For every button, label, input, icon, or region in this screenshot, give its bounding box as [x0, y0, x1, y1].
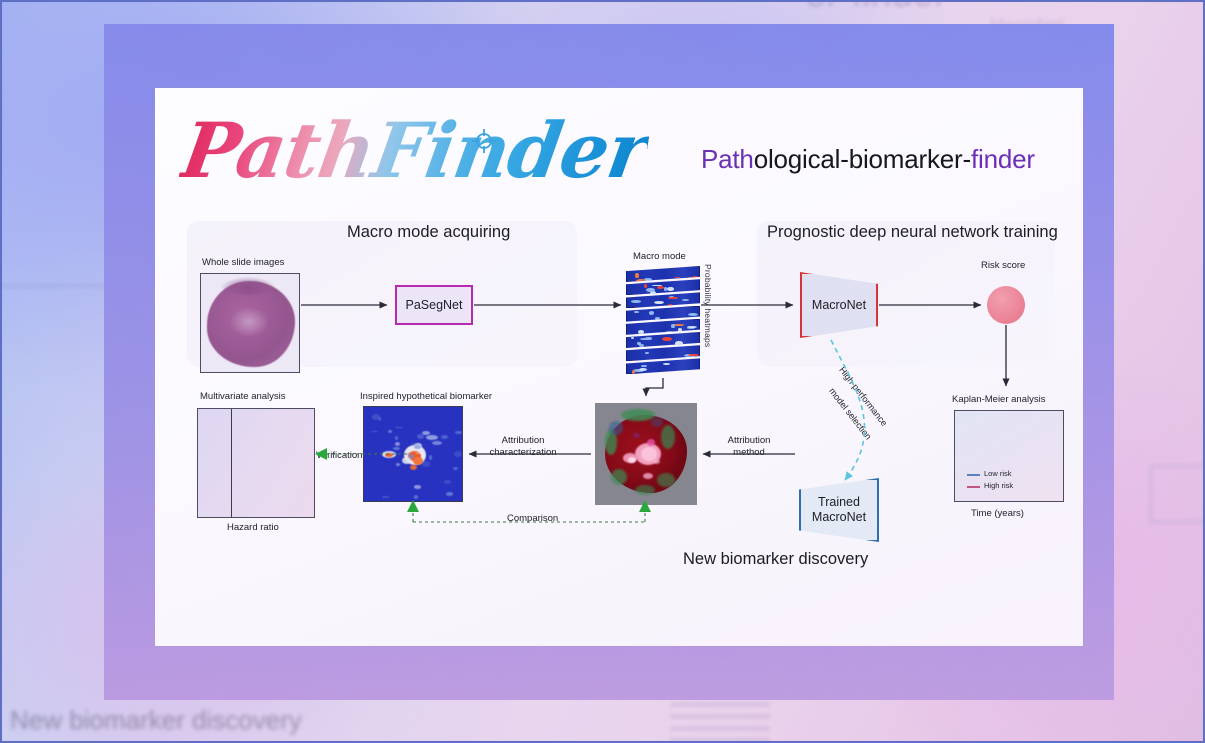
heatmap-blob [410, 465, 417, 470]
ghost-new-biomarker: New biomarker discovery [10, 705, 302, 736]
heatmap-blob [422, 431, 430, 435]
heatmap-blob [453, 467, 458, 470]
tumor-hotspot [633, 433, 640, 438]
subtitle-middle: ological-biomarker- [754, 144, 971, 174]
node-macronet[interactable]: MacroNet [800, 272, 878, 338]
logo-block: PathFinder Pathological-biomarker-finder [183, 110, 1053, 202]
heatmap-blob [432, 441, 442, 445]
heatmap-blob [414, 495, 418, 499]
label-verification: Verification [316, 450, 362, 462]
heatmap-blob [395, 427, 403, 429]
ghost-trained-box [1150, 465, 1205, 523]
heatmap-slice [626, 319, 700, 335]
heatmap-blob [372, 414, 381, 419]
heatmap-blob [395, 436, 398, 440]
label-macro-mode: Macro mode [633, 251, 686, 262]
subtitle: Pathological-biomarker-finder [701, 144, 1035, 175]
label-attribution-characterization: Attributioncharacterization [475, 435, 571, 459]
km-legend-swatch-high [967, 486, 980, 488]
heatmap-blob [417, 434, 423, 439]
label-km-xlabel: Time (years) [971, 508, 1024, 519]
arrow-stack-to-tumor [646, 378, 663, 396]
multivariate-forest-plot [197, 408, 315, 518]
main-figure-card: PathFinder Pathological-biomarker-finder… [155, 88, 1083, 646]
heatmap-blob [388, 430, 392, 433]
tumor-edge-blob [651, 417, 663, 427]
node-trained-macronet[interactable]: Trained MacroNet [799, 478, 879, 542]
heatmap-blob [415, 452, 422, 454]
heatmap-blob [385, 453, 393, 457]
label-attribution-method: Attributionmethod [711, 435, 787, 459]
heatmap-slice [626, 345, 700, 361]
node-trained-macronet-line1: Trained [818, 495, 860, 509]
heatmap-blob [393, 447, 400, 450]
tumor-hotspot [653, 459, 660, 464]
panel-title-prognostic: Prognostic deep neural network training [767, 223, 1058, 242]
km-legend-swatch-low [967, 474, 980, 476]
node-pasegnet-label: PaSegNet [406, 298, 463, 313]
heatmap-blob [454, 451, 462, 456]
tumor-edge-blob [611, 469, 627, 485]
heatmap-blob [422, 461, 430, 466]
heatmap-slice [626, 332, 700, 348]
heatmap-blob [395, 442, 400, 446]
heatmap-blob [444, 480, 451, 484]
heatmap-blob [429, 455, 432, 460]
tumor-hotspot [643, 473, 653, 479]
whole-slide-image [200, 273, 300, 373]
tumor-edge-blob [635, 485, 655, 495]
tumor-edge-blob [621, 409, 655, 421]
km-legend-label-high: High risk [984, 481, 1013, 490]
heatmap-slice [626, 279, 700, 295]
heatmap-blob [414, 485, 422, 489]
figure-stage: PathFinder er-finder Macro mode acquirin… [0, 0, 1205, 743]
node-macronet-label: MacroNet [812, 298, 866, 313]
crosshair-target-icon [471, 128, 497, 154]
tumor-hotspot [628, 457, 636, 463]
ghost-subtitle: er-finder [805, 0, 947, 16]
heatmap-blob [414, 445, 422, 449]
pathfinder-logo: PathFinder [176, 106, 654, 195]
heatmap-blob [426, 435, 438, 440]
node-trained-macronet-line2: MacroNet [812, 510, 866, 524]
risk-score-dot [987, 286, 1025, 324]
label-whole-slide-images: Whole slide images [202, 257, 284, 268]
label-kaplan-meier: Kaplan-Meier analysis [952, 394, 1045, 405]
heatmap-blob [441, 435, 448, 439]
subtitle-prefix: Path [701, 144, 754, 174]
inspired-biomarker-heatmap [363, 406, 463, 502]
macro-mode-stack [626, 266, 700, 376]
heatmap-blob [371, 431, 378, 433]
heatmap-blob [396, 463, 400, 466]
heatmap-blob [382, 496, 389, 499]
heatmap-slice [626, 306, 700, 322]
heatmap-slice [626, 292, 700, 308]
panel-title-macro-acquiring: Macro mode acquiring [347, 223, 510, 242]
heatmap-slice [626, 266, 700, 282]
tumor-edge-blob [609, 421, 623, 435]
label-probability-heatmaps: Probability heatmaps [703, 264, 713, 347]
label-risk-score: Risk score [981, 260, 1025, 271]
heatmap-blob [455, 431, 463, 434]
subtitle-suffix: finder [971, 144, 1035, 174]
km-legend-label-low: Low risk [984, 469, 1012, 478]
heatmap-blob [446, 492, 454, 496]
label-inspired-biomarker: Inspired hypothetical biomarker [360, 391, 492, 402]
heatmap-blob [411, 443, 419, 445]
attribution-tumor-image [595, 403, 697, 505]
node-pasegnet[interactable]: PaSegNet [395, 285, 473, 325]
panel-title-new-biomarker: New biomarker discovery [683, 550, 868, 569]
heatmap-slice [626, 358, 700, 374]
heatmap-blob [407, 452, 410, 456]
tumor-edge-blob [661, 425, 675, 449]
label-multivariate-analysis: Multivariate analysis [200, 391, 286, 402]
label-comparison: Comparison [507, 513, 558, 525]
tumor-edge-blob [657, 473, 675, 487]
tumor-hotspot [647, 439, 655, 446]
label-hazard-ratio: Hazard ratio [227, 522, 279, 533]
